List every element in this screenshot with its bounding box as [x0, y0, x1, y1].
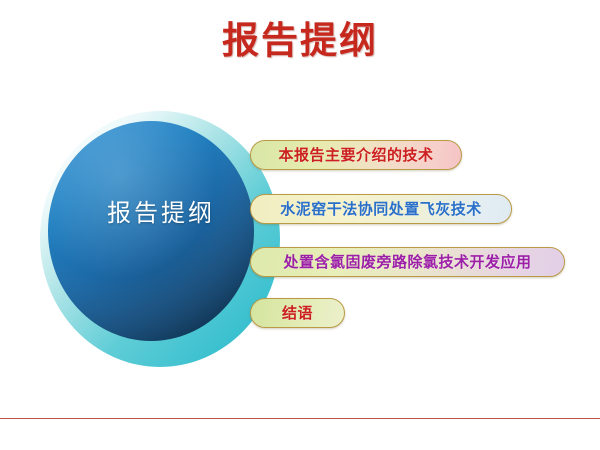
outline-item-4-label: 结语 [282, 306, 313, 321]
outline-item-3-label: 处置含氯固废旁路除氯技术开发应用 [283, 255, 531, 270]
outline-item-1[interactable]: 本报告主要介绍的技术 [250, 140, 462, 170]
outline-item-2[interactable]: 水泥窑干法协同处置飞灰技术 [250, 194, 512, 224]
outline-item-3[interactable]: 处置含氯固废旁路除氯技术开发应用 [250, 247, 565, 277]
center-circle-label: 报告提纲 [66, 201, 256, 225]
center-circle-graphic: 报告提纲 [38, 108, 288, 370]
page-title: 报告提纲 [0, 22, 600, 59]
outline-diagram: 报告提纲 本报告主要介绍的技术 水泥窑干法协同处置飞灰技术 处置含氯固废旁路除氯… [38, 108, 568, 370]
slide-canvas: 报告提纲 [0, 0, 600, 450]
outline-item-2-label: 水泥窑干法协同处置飞灰技术 [280, 202, 482, 217]
outline-item-4[interactable]: 结语 [250, 298, 345, 328]
footer-divider [0, 418, 600, 419]
outline-item-1-label: 本报告主要介绍的技术 [278, 148, 433, 163]
circle-ring-svg [38, 108, 288, 370]
